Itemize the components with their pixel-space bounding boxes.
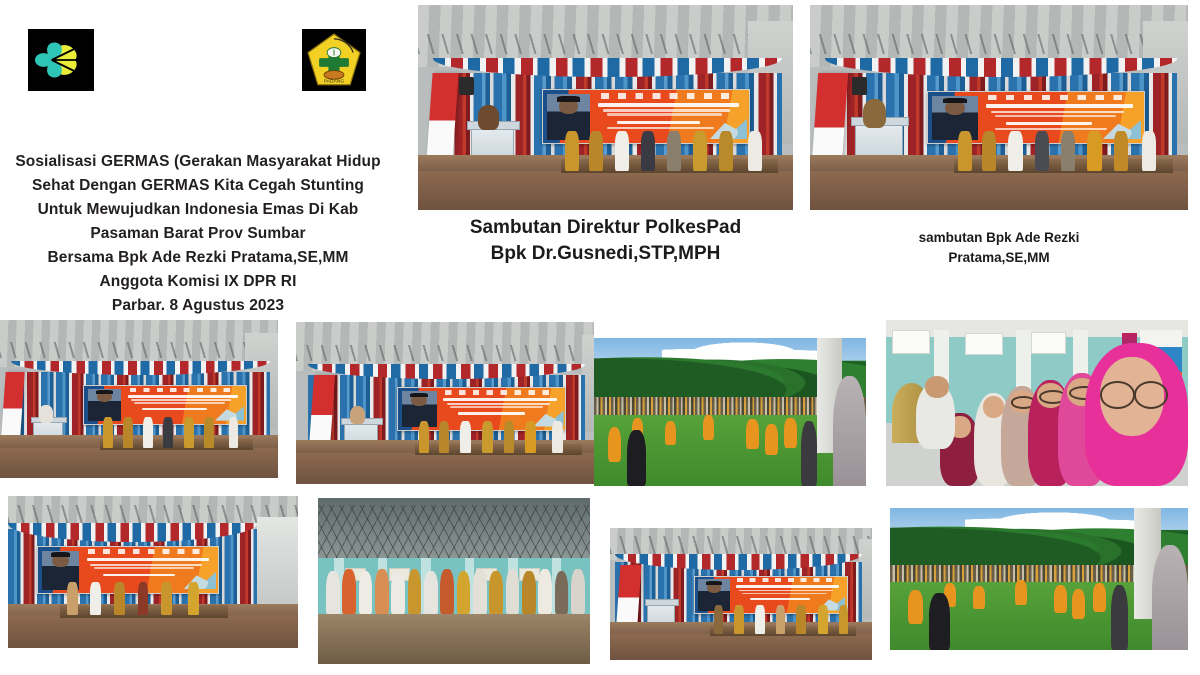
roof-truss xyxy=(0,342,278,358)
caption-top-center-line-1: Sambutan Direktur PolkesPad xyxy=(418,215,793,241)
hall-floor xyxy=(8,615,298,648)
wall-banner xyxy=(1031,332,1066,354)
hall-floor xyxy=(610,634,872,660)
germas-logo xyxy=(28,29,94,91)
hall-floor xyxy=(318,614,590,664)
poltekkes-padang-logo-glyph: PADANG xyxy=(302,29,366,91)
collage-canvas: PADANG Sosialisasi GERMAS (Gerakan Masya… xyxy=(0,0,1200,675)
field-scene xyxy=(594,338,866,486)
photo-bottom-2[interactable] xyxy=(318,498,590,664)
caption-top-center-line-2: Bpk Dr.Gusnedi,STP,MPH xyxy=(418,241,793,267)
photo-top-right[interactable] xyxy=(810,5,1188,210)
roof-truss xyxy=(296,345,594,361)
person-at-podium xyxy=(478,105,499,130)
loudspeaker xyxy=(459,77,474,95)
field-scene xyxy=(890,508,1188,650)
panel-seating xyxy=(415,414,582,453)
poltekkes-logo-caption: PADANG xyxy=(324,78,345,84)
hall-scene xyxy=(418,5,793,210)
title-line-6: Anggota Komisi IX DPR RI xyxy=(8,270,388,294)
title-line-2: Sehat Dengan GERMAS Kita Cegah Stunting xyxy=(8,174,388,198)
selfie-scene xyxy=(886,320,1188,486)
hall-scene xyxy=(610,528,872,660)
wall-banner xyxy=(892,330,930,354)
person-at-podium xyxy=(39,405,53,422)
title-line-4: Pasaman Barat Prov Sumbar xyxy=(8,222,388,246)
roof-truss xyxy=(318,505,590,561)
panel-seating xyxy=(60,575,228,615)
title-line-7: Parbar. 8 Agustus 2023 xyxy=(8,294,388,318)
foreground-person-hijab xyxy=(833,376,866,486)
poltekkes-padang-logo: PADANG xyxy=(302,29,366,91)
hall-floor xyxy=(810,171,1188,210)
person-at-podium xyxy=(350,406,365,424)
panel-seating xyxy=(954,122,1173,171)
photo-bottom-4[interactable] xyxy=(890,508,1188,650)
photo-bottom-3[interactable] xyxy=(610,528,872,660)
roof-truss xyxy=(610,536,872,554)
eyeglasses xyxy=(1100,381,1134,408)
photo-mid-2[interactable] xyxy=(296,322,594,484)
roof-truss xyxy=(418,34,793,55)
foreground-person-hijab xyxy=(1152,545,1188,650)
hall-floor xyxy=(418,171,793,210)
banner-logo-strip xyxy=(601,93,733,99)
banner-logo-strip xyxy=(737,578,834,582)
group-hall-scene xyxy=(318,498,590,664)
panel-seating xyxy=(710,599,857,633)
banner-logo-strip xyxy=(988,95,1126,101)
caption-top-center: Sambutan Direktur PolkesPad Bpk Dr.Gusne… xyxy=(418,215,793,266)
wall-banner xyxy=(965,333,1003,355)
roof-truss xyxy=(810,34,1188,55)
photo-mid-1[interactable] xyxy=(0,320,278,478)
photo-bottom-1[interactable] xyxy=(8,496,298,648)
banner-logo-strip xyxy=(445,390,552,395)
hall-scene xyxy=(810,5,1188,210)
roof-truss xyxy=(8,505,298,523)
panel-seating xyxy=(100,410,253,448)
loudspeaker xyxy=(852,77,867,95)
title-line-3: Untuk Mewujudkan Indonesia Emas Di Kab xyxy=(8,198,388,222)
caption-top-right: sambutan Bpk Ade Rezki Pratama,SE,MM xyxy=(810,228,1188,267)
person-at-podium xyxy=(863,99,886,128)
caption-top-right-line-2: Pratama,SE,MM xyxy=(810,248,1188,268)
foreground-person xyxy=(929,593,950,650)
photo-top-center[interactable] xyxy=(418,5,793,210)
eyeglasses xyxy=(1134,381,1168,408)
foreground-person xyxy=(627,430,646,486)
side-wall xyxy=(257,517,298,611)
germas-logo-glyph xyxy=(28,29,94,91)
foreground-person xyxy=(801,421,817,486)
hall-scene xyxy=(0,320,278,478)
hall-scene xyxy=(8,496,298,648)
hall-floor xyxy=(296,453,594,484)
banner-logo-strip xyxy=(130,388,233,392)
page-title: Sosialisasi GERMAS (Gerakan Masyarakat H… xyxy=(8,150,388,318)
photo-mid-4[interactable] xyxy=(886,320,1188,486)
hall-floor xyxy=(0,448,278,478)
title-line-5: Bersama Bpk Ade Rezki Pratama,SE,MM xyxy=(8,246,388,270)
title-line-1: Sosialisasi GERMAS (Gerakan Masyarakat H… xyxy=(8,150,388,174)
caption-top-right-line-1: sambutan Bpk Ade Rezki xyxy=(810,228,1188,248)
hall-scene xyxy=(296,322,594,484)
photo-mid-3[interactable] xyxy=(594,338,866,486)
banner-logo-strip xyxy=(88,549,203,554)
panel-seating xyxy=(561,122,779,171)
foreground-person xyxy=(1111,585,1129,650)
